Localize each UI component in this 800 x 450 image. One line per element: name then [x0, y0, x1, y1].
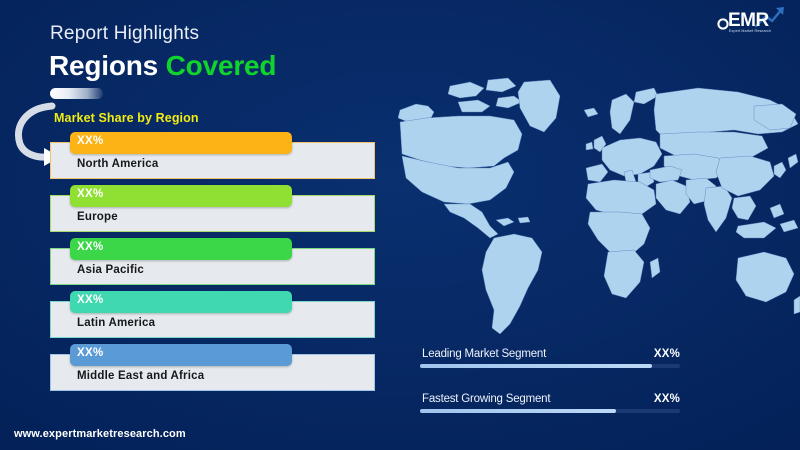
segment-label: Leading Market Segment	[422, 348, 546, 360]
region-value: XX%	[77, 188, 103, 200]
region-row[interactable]: XX% North America	[50, 132, 375, 179]
region-row[interactable]: XX% Middle East and Africa	[50, 344, 375, 391]
footer-url[interactable]: www.expertmarketresearch.com	[14, 428, 186, 440]
segment-value: XX%	[654, 348, 680, 360]
region-label: Middle East and Africa	[77, 370, 204, 382]
world-map-svg	[398, 62, 800, 344]
region-label: North America	[77, 158, 158, 170]
segment-row[interactable]: Fastest Growing Segment XX%	[420, 393, 680, 417]
region-value: XX%	[77, 241, 103, 253]
region-value: XX%	[77, 135, 103, 147]
emr-logo: EMR Expert Market Research	[714, 4, 792, 40]
segment-metrics: Leading Market Segment XX% Fastest Growi…	[420, 348, 680, 418]
region-label: Asia Pacific	[77, 264, 144, 276]
region-row[interactable]: XX% Europe	[50, 185, 375, 232]
segment-row[interactable]: Leading Market Segment XX%	[420, 348, 680, 372]
region-value: XX%	[77, 347, 103, 359]
logo-tagline: Expert Market Research	[729, 29, 771, 33]
segment-label: Fastest Growing Segment	[422, 393, 550, 405]
segment-fill	[420, 364, 652, 368]
segment-fill	[420, 409, 616, 413]
region-row[interactable]: XX% Asia Pacific	[50, 238, 375, 285]
region-value: XX%	[77, 294, 103, 306]
slide-canvas: Report Highlights Regions Covered Market…	[0, 0, 800, 450]
world-map	[398, 62, 800, 344]
region-bar-chart: XX% North America XX% Europe XX% Asia Pa…	[0, 0, 400, 450]
region-row[interactable]: XX% Latin America	[50, 291, 375, 338]
region-label: Europe	[77, 211, 118, 223]
region-label: Latin America	[77, 317, 155, 329]
segment-value: XX%	[654, 393, 680, 405]
